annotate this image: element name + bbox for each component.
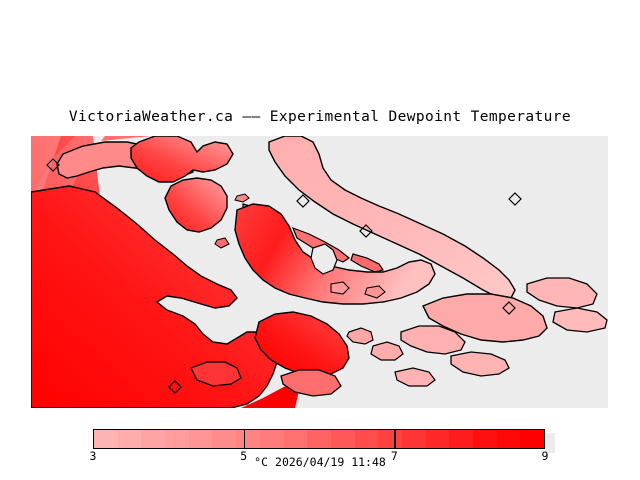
colorbar	[93, 429, 545, 449]
colorbar-band-14	[426, 430, 450, 448]
colorbar-band-11	[355, 430, 379, 448]
colorbar-band-13	[402, 430, 426, 448]
colorbar-band-1	[118, 430, 142, 448]
colorbar-caption: °C2026/04/19 11:48	[0, 455, 640, 469]
colorbar-band-17	[497, 430, 521, 448]
colorbar-timestamp: 2026/04/19 11:48	[275, 455, 386, 469]
map-canvas[interactable]	[31, 136, 608, 408]
colorbar-band-16	[473, 430, 497, 448]
colorbar-band-8	[284, 430, 308, 448]
colorbar-band-3	[165, 430, 189, 448]
colorbar-band-5	[212, 430, 236, 448]
weather-map-page: VictoriaWeather.ca —— Experimental Dewpo…	[0, 0, 640, 480]
colorbar-tick-5	[244, 429, 245, 449]
colorbar-band-18	[520, 430, 544, 448]
colorbar-band-12	[378, 430, 402, 448]
colorbar-band-4	[189, 430, 213, 448]
colorbar-gradient	[93, 429, 545, 449]
colorbar-band-6	[236, 430, 260, 448]
colorbar-band-2	[141, 430, 165, 448]
page-title: VictoriaWeather.ca —— Experimental Dewpo…	[0, 109, 640, 125]
colorbar-tick-7	[394, 429, 395, 449]
map-svg	[31, 136, 608, 408]
colorbar-band-10	[331, 430, 355, 448]
colorbar-band-9	[307, 430, 331, 448]
colorbar-band-0	[94, 430, 118, 448]
colorbar-band-7	[260, 430, 284, 448]
colorbar-unit: °C	[254, 455, 268, 469]
colorbar-band-15	[449, 430, 473, 448]
